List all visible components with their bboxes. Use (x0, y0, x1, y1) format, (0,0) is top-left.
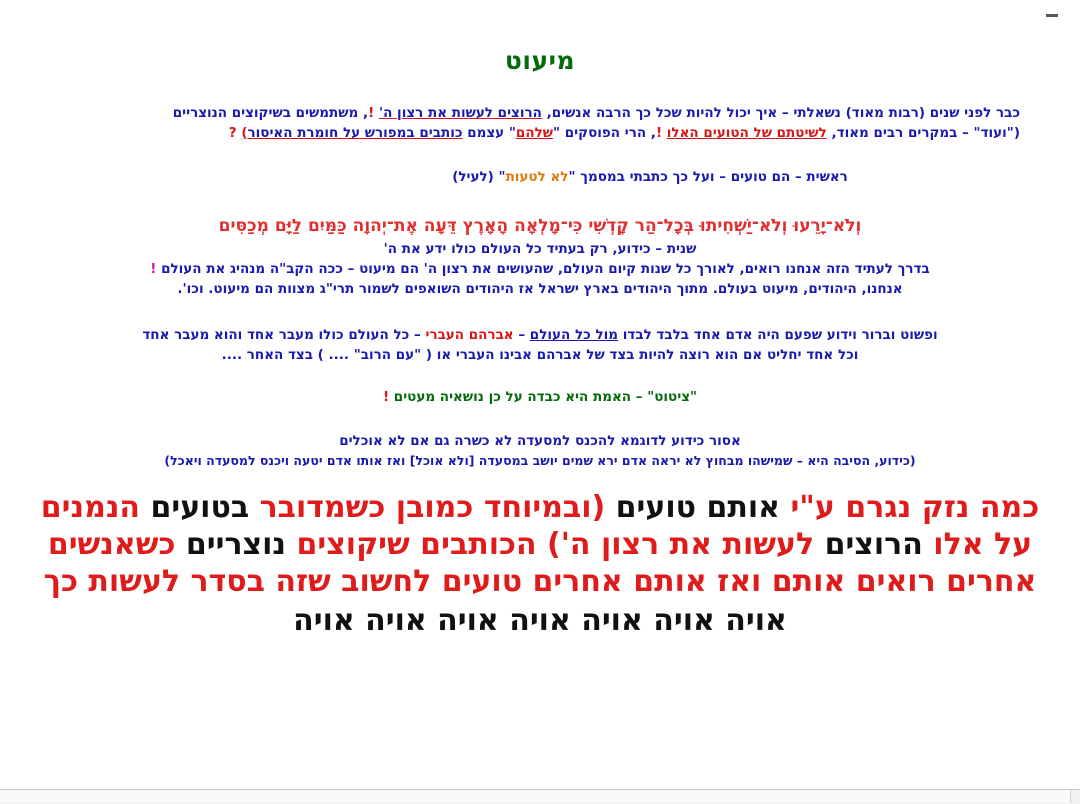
page-title: מיעוט (0, 0, 1080, 75)
closing-statement: כמה נזק נגרם ע"י אותם טועים (ובמיוחד כמו… (0, 489, 1080, 639)
paragraph-quote: "ציטוט" – האמת היא כבדה על כן נושאיה מעט… (0, 387, 1080, 407)
closing-line-3: אחרים רואים אותם ואז אותם אחרים טועים לח… (18, 563, 1062, 600)
closing-l1-a: כמה נזק נגרם ע"י (780, 490, 1039, 525)
p1-l2-link-1[interactable]: לשיטתם של הטועים האלו (667, 125, 827, 141)
p1-l2-link-2[interactable]: כותבים במפורש על חומרת האיסור (248, 125, 463, 141)
closing-l2-black-2: נוצריים (186, 527, 286, 562)
p1-l2-text-b: , הרי הפוסקים " (553, 125, 656, 141)
paragraph-avraham: ופשוט וברור וידוע שפעם היה אדם אחד בלבד … (0, 325, 1080, 365)
p1-l1-exclaim: ! (368, 105, 379, 121)
p2-orange-title: לא לטעות (506, 169, 569, 185)
p4-line-1: ופשוט וברור וידוע שפעם היה אדם אחד בלבד … (60, 325, 1020, 345)
closing-l2-a: על אלו (923, 527, 1032, 562)
p1-l1-link[interactable]: הרוצים לעשות את רצון ה' (379, 105, 542, 121)
p4-l1-link[interactable]: מול כל העולם (530, 327, 618, 343)
document-page: מיעוט כבר לפני שנים (רבות מאוד) נשאלתי –… (0, 0, 1080, 790)
p1-l1-text-a: כבר לפני שנים (רבות מאוד) נשאלתי – איך י… (542, 105, 1020, 121)
bottom-scroll-thumb[interactable] (0, 790, 1071, 803)
closing-l1-b: (ובמיוחד כמובן כשמדובר (249, 490, 616, 525)
p1-l2-exclaim: ! (656, 125, 667, 141)
p2-text-b: " (לעיל) (452, 169, 505, 185)
top-right-mark (1046, 14, 1058, 17)
p3-line-1: שנית – כידוע, רק בעתיד כל העולם כולו ידע… (0, 239, 1080, 259)
p3-line-2: בדרך לעתיד הזה אנחנו רואים, לאורך כל שנו… (0, 259, 1080, 279)
paragraph-restaurant-example: אסור כידוע לדוגמא להכנס למסעדה לא כשרה ג… (0, 431, 1080, 471)
paragraph-1-line-1: כבר לפני שנים (רבות מאוד) נשאלתי – איך י… (60, 103, 1020, 123)
p5-exclaim: ! (383, 389, 394, 405)
closing-l2-c: כשאנשים (48, 527, 186, 562)
p1-l2-text-a: ("ועוד" – במקרים רבים מאוד, (827, 125, 1020, 141)
closing-line-1: כמה נזק נגרם ע"י אותם טועים (ובמיוחד כמו… (18, 489, 1062, 526)
p4-l1-red: אברהם העברי (425, 327, 513, 343)
bottom-scroll-strip[interactable] (0, 789, 1080, 804)
closing-line-2: על אלו הרוצים לעשות את רצון ה') הכותבים … (18, 526, 1062, 563)
closing-l1-black-2: בטועים (150, 490, 249, 525)
paragraph-secondly: שנית – כידוע, רק בעתיד כל העולם כולו ידע… (0, 239, 1080, 299)
p1-l2-text-d: ) ? (229, 125, 248, 141)
p1-l2-red-word[interactable]: שלהם (516, 125, 553, 141)
scripture-verse: וְלֹא־יָרֵעוּ וְלֹא־יַשְׁחִיתוּ בְּכָל־ה… (0, 215, 1080, 237)
p3-l2-exclaim: ! (150, 261, 161, 277)
p4-l1-text-c: – כל העולם כולו מעבר אחד והוא מעבר אחד (142, 327, 425, 343)
p6-line-1: אסור כידוע לדוגמא להכנס למסעדה לא כשרה ג… (60, 431, 1020, 451)
p5-text: "ציטוט" – האמת היא כבדה על כן נושאיה מעט… (394, 389, 697, 405)
paragraph-first-question: כבר לפני שנים (רבות מאוד) נשאלתי – איך י… (0, 103, 1080, 143)
closing-l1-black-1: אותם טועים (616, 490, 780, 525)
p1-l1-text-b: , משתמשים בשיקוצים הנוצריים (173, 105, 368, 121)
p6-line-2: (כידוע, הסיבה היא – שמישהו מבחוץ לא יראה… (60, 451, 1020, 471)
p2-text-a: ראשית – הם טועים – ועל כך כתבתי במסמך " (568, 169, 847, 185)
closing-line-4: אויה אויה אויה אויה אויה אויה אויה (18, 602, 1062, 639)
paragraph-1-line-2: ("ועוד" – במקרים רבים מאוד, לשיטתם של הט… (60, 123, 1020, 143)
p3-line-3: אנחנו, היהודים, מיעוט בעולם. מתוך היהודי… (0, 279, 1080, 299)
closing-l2-black-1: הרוצים (825, 527, 923, 562)
p4-l1-dash-1: – (514, 327, 530, 343)
p4-l1-text-a: ופשוט וברור וידוע שפעם היה אדם אחד בלבד … (618, 327, 938, 343)
closing-l1-c: הנמנים (41, 490, 151, 525)
paragraph-firstly: ראשית – הם טועים – ועל כך כתבתי במסמך "ל… (0, 167, 1080, 187)
p3-l2-text: בדרך לעתיד הזה אנחנו רואים, לאורך כל שנו… (161, 261, 930, 277)
p4-line-2: וכל אחד יחליט אם הוא רוצה להיות בצד של א… (60, 345, 1020, 365)
p1-l2-text-c: " עצמם (463, 125, 516, 141)
closing-l2-b: לעשות את רצון ה') הכותבים שיקוצים (286, 527, 825, 562)
